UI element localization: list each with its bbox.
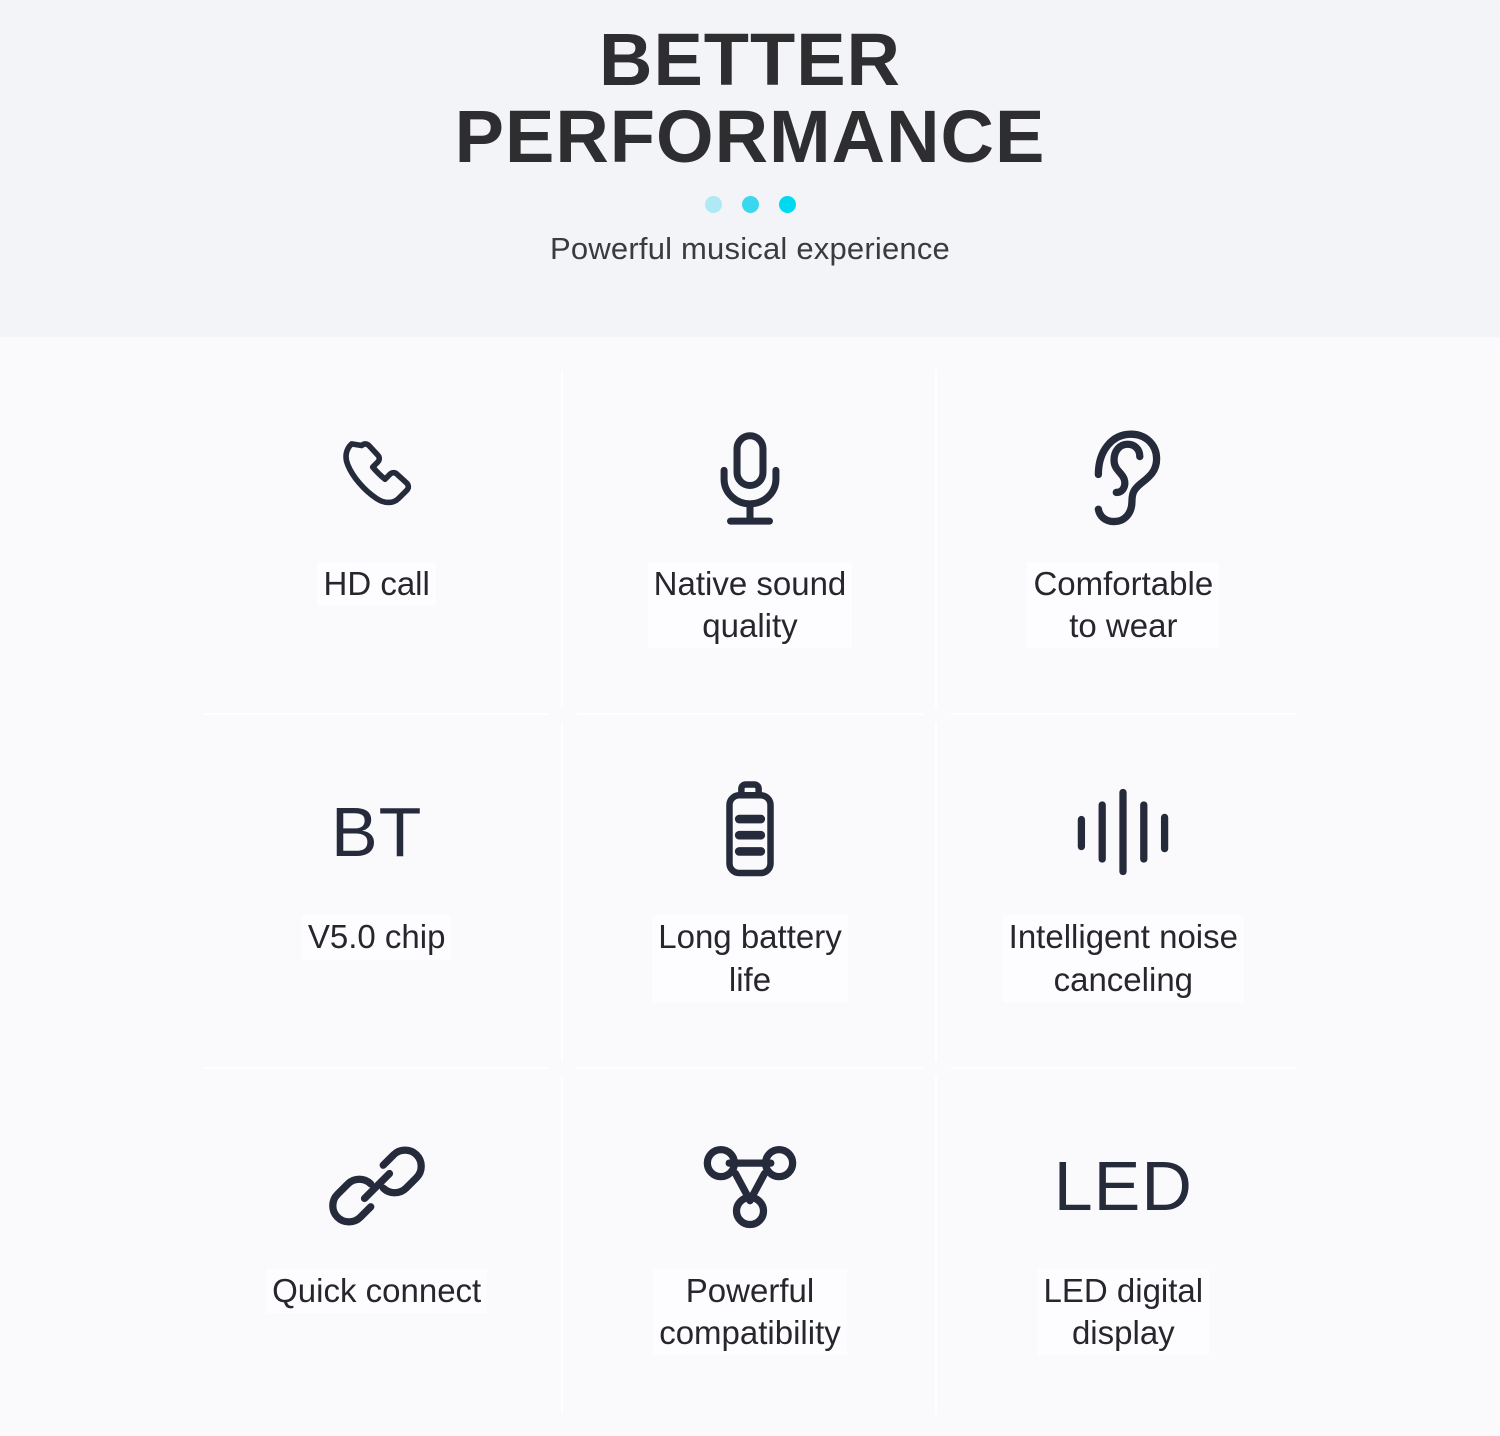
feature-cell-compatibility: Powerfulcompatibility <box>563 1069 936 1422</box>
page-subtitle: Powerful musical experience <box>550 231 950 267</box>
phone-handset-icon <box>323 420 431 538</box>
feature-label: Quick connect <box>266 1269 487 1313</box>
feature-cell-hd-call: HD call <box>190 362 563 715</box>
led-text-icon-label: LED <box>1054 1151 1193 1221</box>
feature-grid: HD call Native soundquality Comforta <box>0 337 1500 1436</box>
feature-cell-noise-canceling: Intelligent noisecanceling <box>937 715 1310 1068</box>
feature-label: Intelligent noisecanceling <box>1003 915 1244 1001</box>
feature-label: HD call <box>317 562 435 606</box>
feature-cell-quick-connect: Quick connect <box>190 1069 563 1422</box>
page-title-line-1: BETTER <box>599 18 901 101</box>
page-title-line-2: PERFORMANCE <box>455 99 1046 176</box>
microphone-icon <box>702 420 798 538</box>
feature-cell-led-display: LED LED digitaldisplay <box>937 1069 1310 1422</box>
feature-label: LED digitaldisplay <box>1038 1269 1210 1355</box>
dot-indicator-group <box>705 196 796 213</box>
bt-text-icon-label: BT <box>331 797 422 867</box>
feature-label: Powerfulcompatibility <box>653 1269 847 1355</box>
feature-cell-comfortable-wear: Comfortableto wear <box>937 362 1310 715</box>
feature-label: Long batterylife <box>652 915 847 1001</box>
feature-label: V5.0 chip <box>302 915 452 959</box>
feature-cell-native-sound: Native soundquality <box>563 362 936 715</box>
led-text-icon: LED <box>1054 1127 1193 1245</box>
dot-2 <box>742 196 759 213</box>
header-banner: BETTER PERFORMANCE Powerful musical expe… <box>0 0 1500 337</box>
chain-link-icon <box>325 1127 429 1245</box>
feature-label: Comfortableto wear <box>1027 562 1219 648</box>
feature-label: Native soundquality <box>648 562 853 648</box>
feature-grid-inner: HD call Native soundquality Comforta <box>190 362 1310 1422</box>
dot-3 <box>779 196 796 213</box>
battery-icon <box>710 773 790 891</box>
bt-text-icon: BT <box>331 773 422 891</box>
feature-cell-bt-chip: BT V5.0 chip <box>190 715 563 1068</box>
network-nodes-icon <box>698 1127 802 1245</box>
sound-wave-icon <box>1071 773 1175 891</box>
feature-cell-long-battery: Long batterylife <box>563 715 936 1068</box>
page-title: BETTER PERFORMANCE <box>455 22 1046 176</box>
dot-1 <box>705 196 722 213</box>
ear-icon <box>1075 420 1171 538</box>
